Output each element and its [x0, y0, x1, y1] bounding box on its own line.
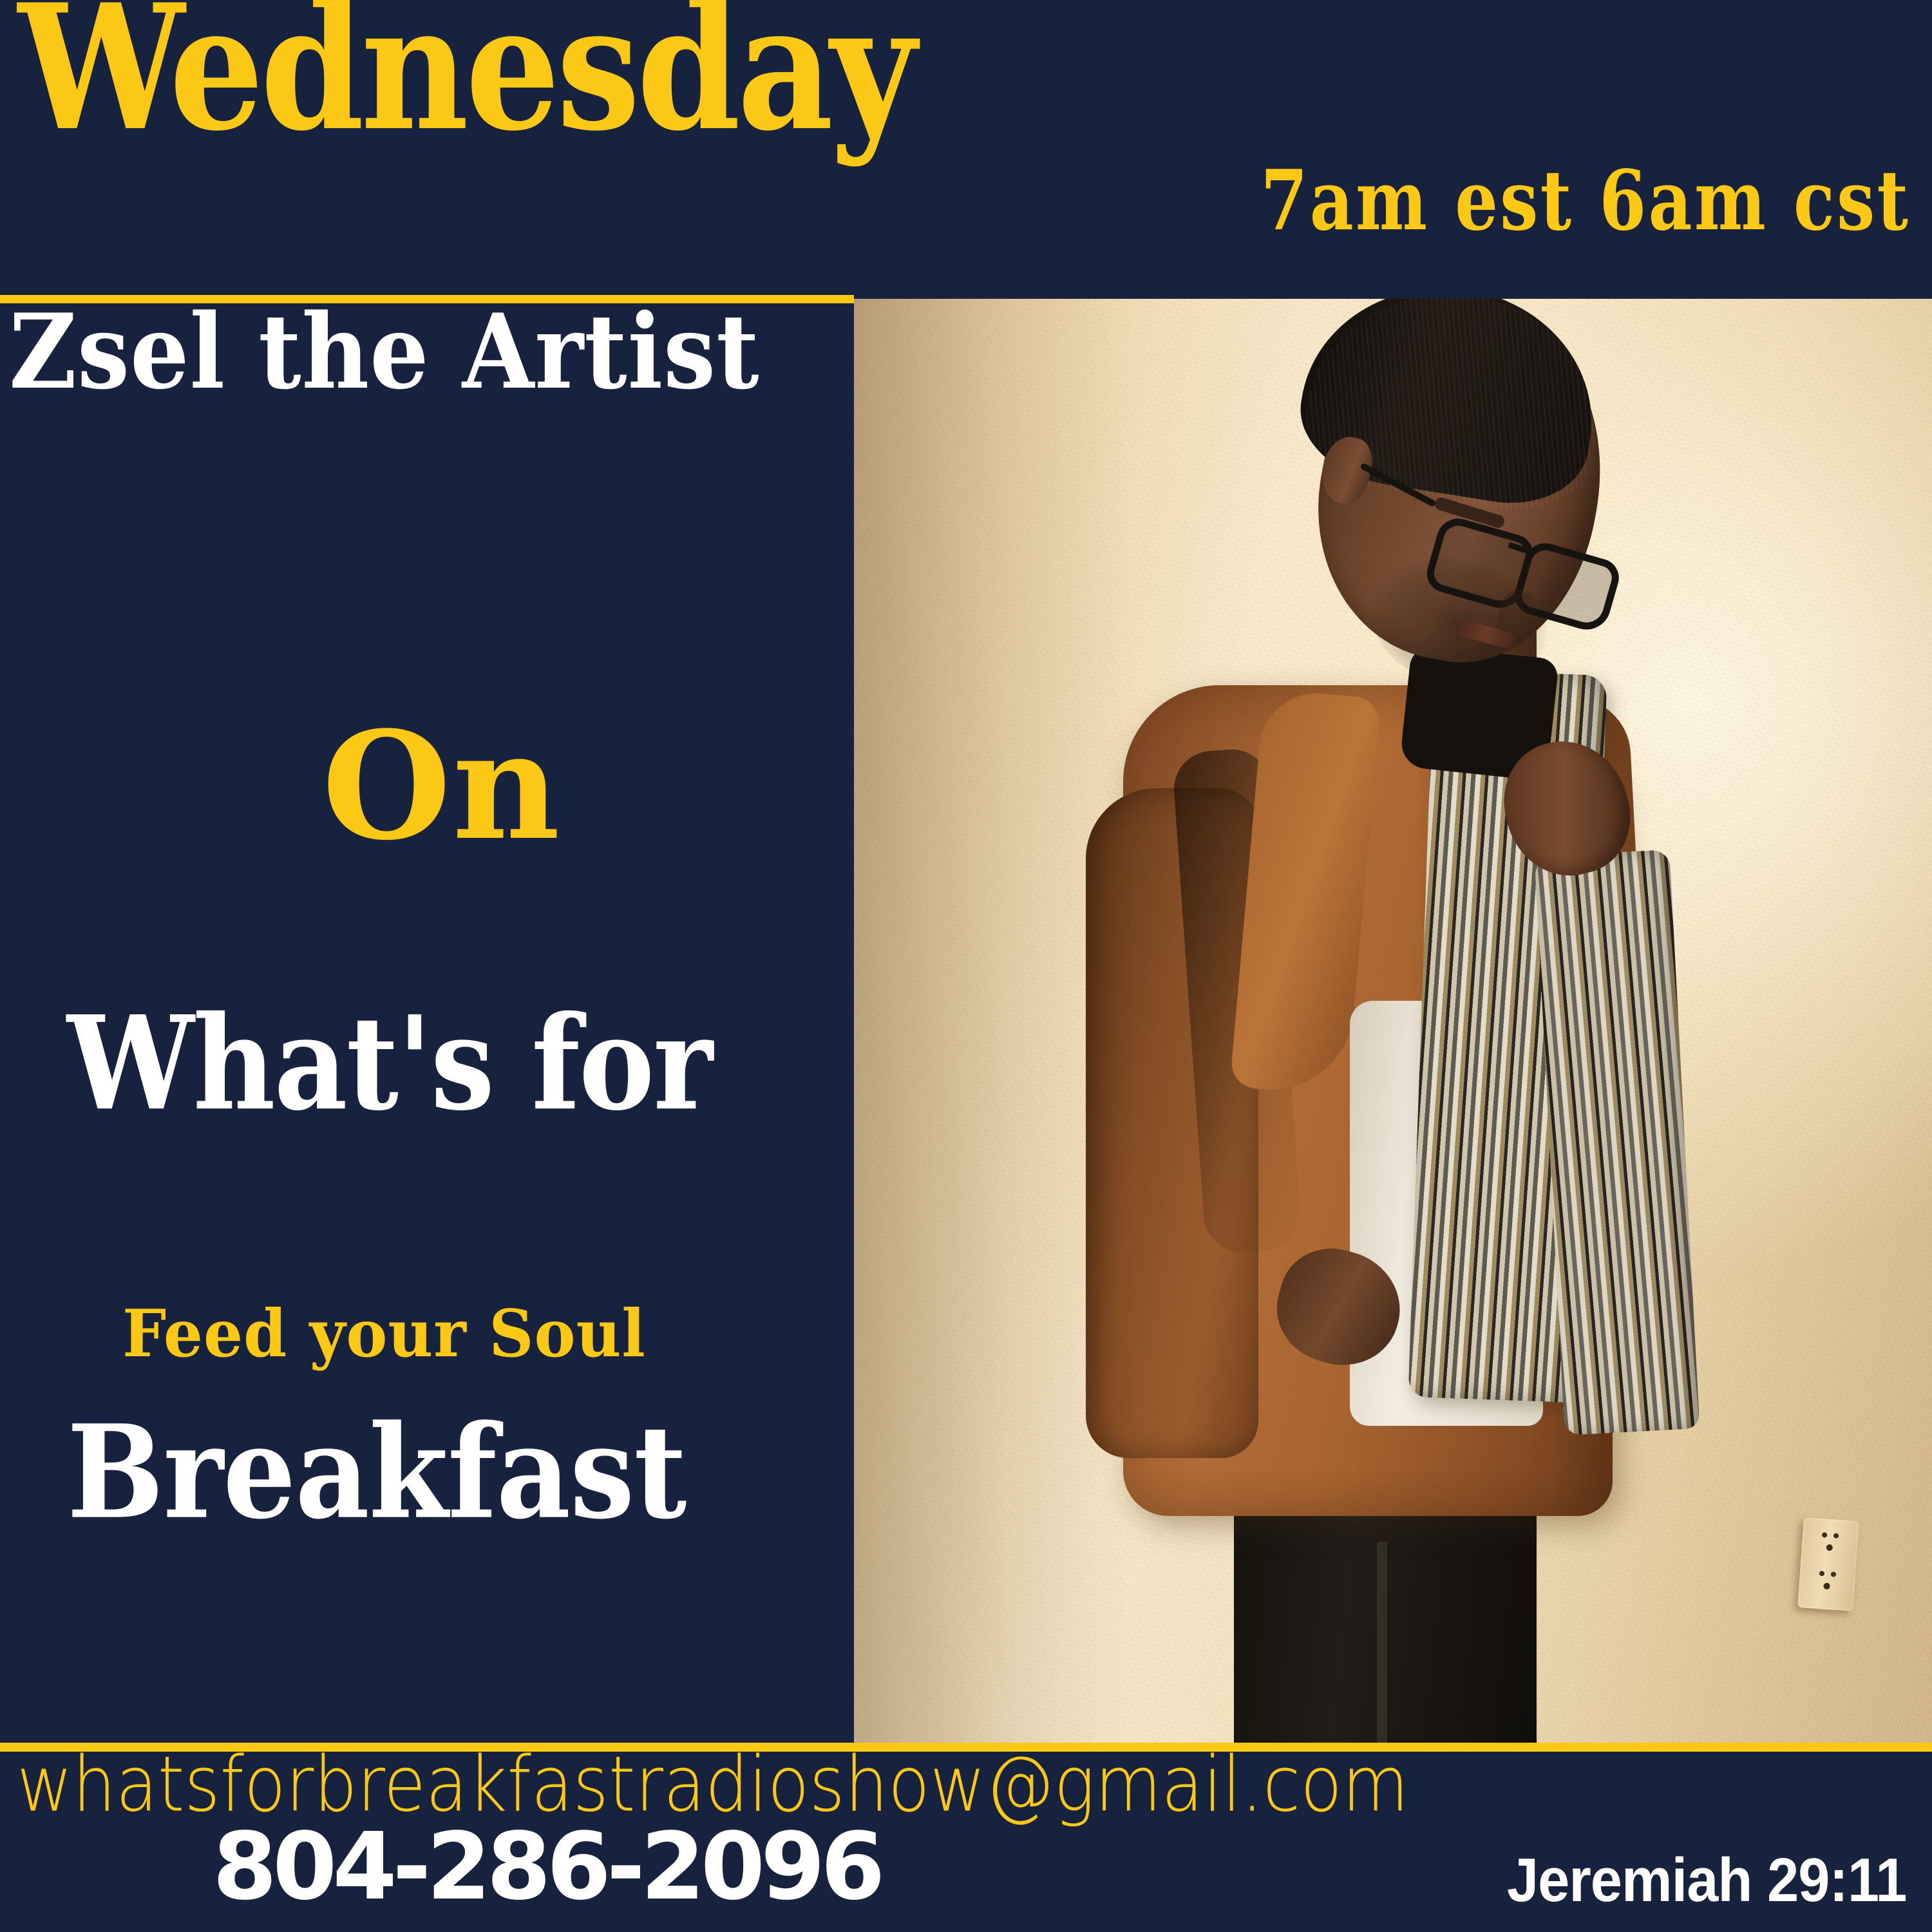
- trousers-seam: [1377, 1542, 1387, 1743]
- show-title-line1: What's for: [67, 1002, 853, 1126]
- airtime-label: 7am est 6am cst: [1260, 160, 1910, 242]
- scripture-reference: Jeremiah 29:11: [1506, 1850, 1906, 1911]
- tagline: Feed your Soul: [122, 1302, 646, 1367]
- left-text-column: Zsel the Artist On What's for Feed your …: [0, 303, 854, 1743]
- footer-contact: whatsforbreakfastradioshow@gmail.com 804…: [0, 1752, 1932, 1932]
- guest-photo: [854, 299, 1932, 1743]
- header-band: Wednesday 7am est 6am cst: [0, 0, 1932, 295]
- day-title: Wednesday: [18, 0, 913, 155]
- person-figure: [854, 299, 1932, 1743]
- show-title-line2: Breakfast: [67, 1411, 782, 1533]
- promo-flyer: Wednesday 7am est 6am cst Zsel the Artis…: [0, 0, 1932, 1932]
- phone-number[interactable]: 804-286-2096: [213, 1820, 880, 1913]
- on-word: On: [322, 712, 562, 860]
- email-address[interactable]: whatsforbreakfastradioshow@gmail.com: [17, 1747, 1408, 1823]
- host-name: Zsel the Artist: [9, 299, 762, 404]
